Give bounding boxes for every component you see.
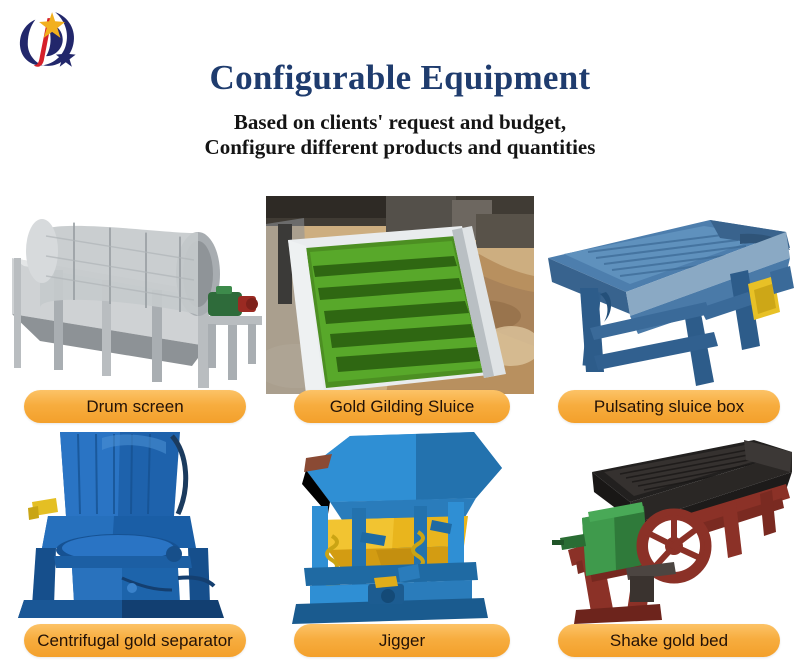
product-grid: Drum screen — [0, 196, 800, 660]
shake-gold-bed-photo — [534, 428, 799, 626]
product-label-centrifugal-gold-separator[interactable]: Centrifugal gold separator — [24, 624, 246, 657]
product-label-gold-gilding-sluice[interactable]: Gold Gilding Sluice — [294, 390, 510, 423]
product-row-2: Centrifugal gold separator — [0, 428, 800, 660]
subtitle-line-1: Based on clients' request and budget, — [234, 110, 566, 134]
product-label-jigger[interactable]: Jigger — [294, 624, 510, 657]
product-card-pulsating-sluice-box[interactable]: Pulsating sluice box — [534, 196, 799, 428]
product-label-shake-gold-bed[interactable]: Shake gold bed — [558, 624, 780, 657]
product-card-gold-gilding-sluice[interactable]: Gold Gilding Sluice — [266, 196, 531, 428]
drum-screen-photo — [2, 196, 267, 394]
subtitle-line-2: Configure different products and quantit… — [0, 135, 800, 160]
product-row-1: Drum screen — [0, 196, 800, 428]
header: Configurable Equipment Based on clients'… — [0, 0, 800, 160]
product-label-drum-screen[interactable]: Drum screen — [24, 390, 246, 423]
page-subtitle: Based on clients' request and budget, Co… — [0, 98, 800, 160]
poster-canvas: Configurable Equipment Based on clients'… — [0, 0, 800, 669]
product-card-centrifugal-gold-separator[interactable]: Centrifugal gold separator — [2, 428, 267, 660]
gold-gilding-sluice-photo — [266, 196, 534, 394]
jigger-photo — [266, 428, 531, 626]
product-label-pulsating-sluice-box[interactable]: Pulsating sluice box — [558, 390, 780, 423]
centrifugal-gold-separator-photo — [2, 428, 267, 626]
product-card-drum-screen[interactable]: Drum screen — [2, 196, 267, 428]
page-title: Configurable Equipment — [0, 0, 800, 98]
product-card-jigger[interactable]: Jigger — [266, 428, 531, 660]
pulsating-sluice-box-photo — [534, 196, 799, 394]
product-card-shake-gold-bed[interactable]: Shake gold bed — [534, 428, 799, 660]
